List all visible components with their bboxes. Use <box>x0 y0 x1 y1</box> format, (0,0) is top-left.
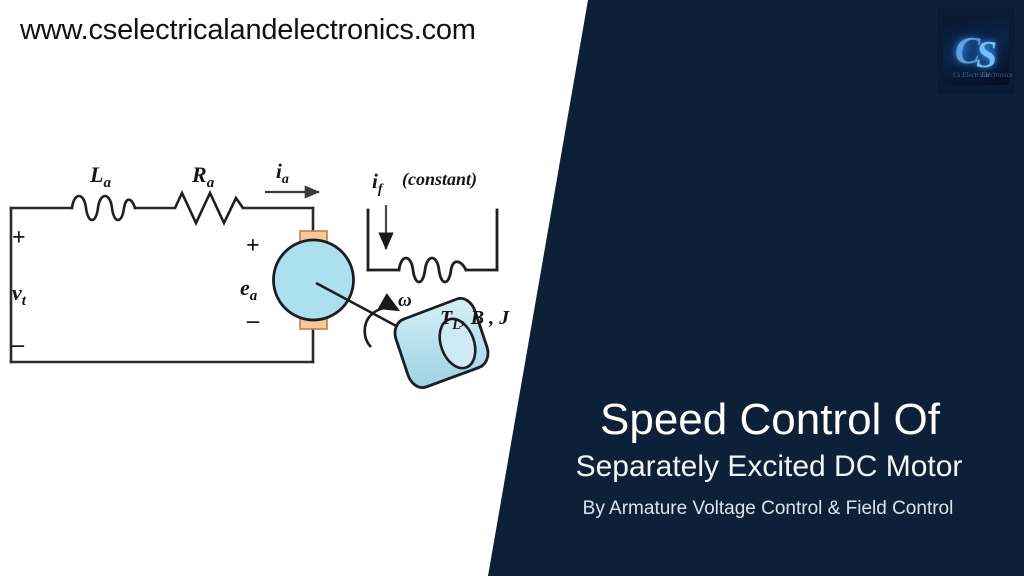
title-block: Speed Control Of Separately Excited DC M… <box>500 395 1024 521</box>
field-winding-circuit <box>368 210 497 270</box>
logo-glow-background: C S Cs Electrical Electronics <box>943 17 1009 85</box>
site-url-text: www.cselectricalandelectronics.com <box>20 14 476 47</box>
armature-resistance-symbol <box>175 193 243 223</box>
page-title: Speed Control Of <box>516 395 1024 444</box>
label-field-constant-note: (constant) <box>402 169 477 190</box>
slide-canvas: www.cselectricalandelectronics.com C S C… <box>0 0 1024 576</box>
label-back-emf: ea <box>240 275 258 304</box>
logo-subtext-right: Electronics <box>981 71 1013 79</box>
label-source-minus: – <box>11 332 25 358</box>
label-terminal-voltage: vt <box>12 280 27 309</box>
label-motor-minus: – <box>246 308 260 334</box>
label-armature-inductance: La <box>89 162 111 191</box>
armature-inductance-symbol <box>72 196 135 220</box>
label-field-current: if <box>372 169 384 197</box>
rotation-arrow <box>365 308 398 347</box>
label-armature-resistance: Ra <box>191 162 215 191</box>
motor-armature-circle <box>274 240 354 320</box>
armature-circuit-wires <box>11 208 313 362</box>
label-motor-plus: + <box>246 233 260 259</box>
label-armature-current: ia <box>276 159 289 187</box>
label-source-plus: + <box>12 225 26 251</box>
field-inductance-symbol <box>399 258 466 282</box>
brand-logo[interactable]: C S Cs Electrical Electronics <box>937 8 1015 94</box>
page-subtitle: Separately Excited DC Motor <box>514 450 1024 485</box>
label-angular-speed: ω <box>398 290 412 311</box>
dc-motor-circuit-diagram: La Ra ia + vt – + ea <box>0 120 560 400</box>
page-byline: By Armature Voltage Control & Field Cont… <box>512 498 1024 521</box>
